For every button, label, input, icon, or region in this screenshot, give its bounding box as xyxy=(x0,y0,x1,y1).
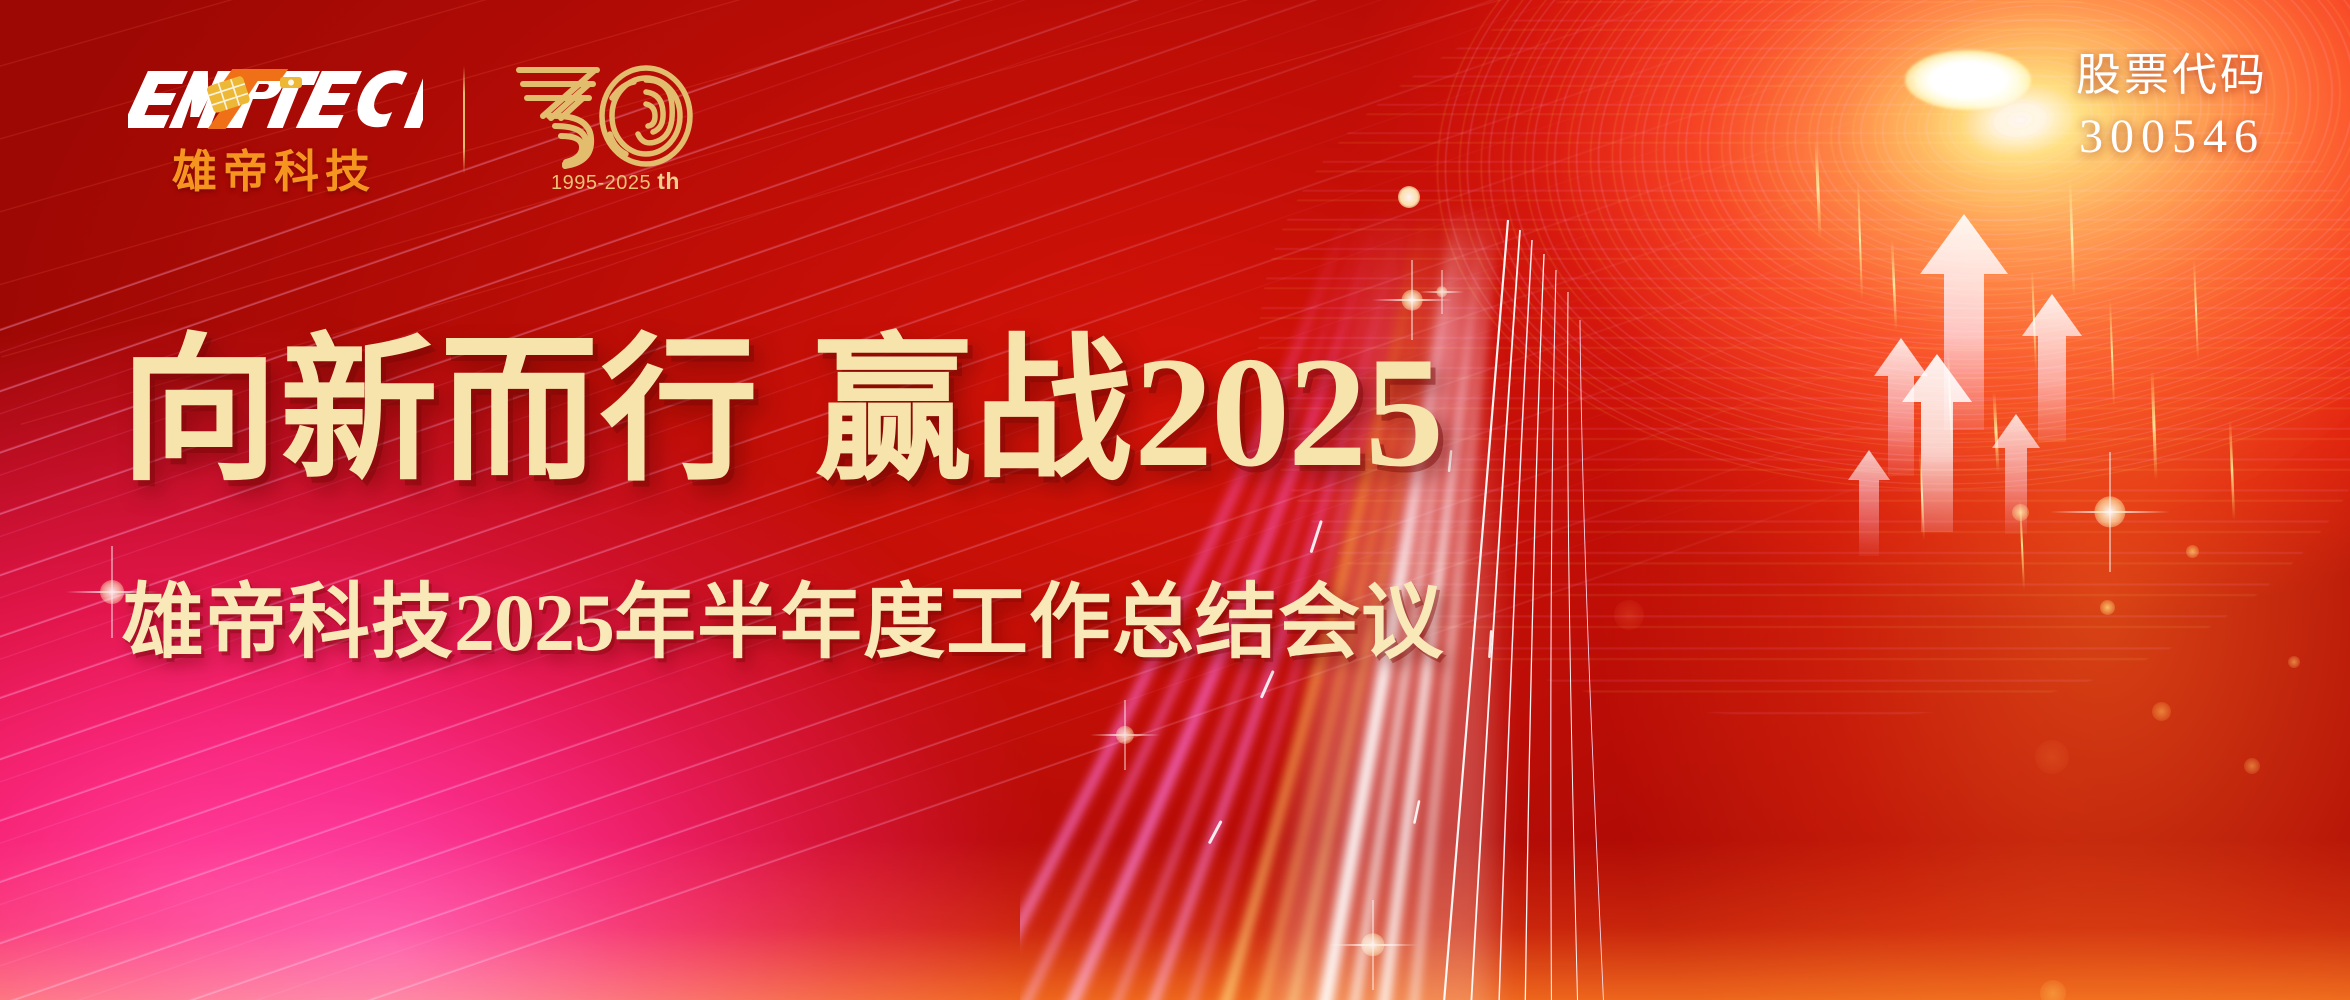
stock-code-value: 300546 xyxy=(2076,113,2268,161)
bokeh-dot xyxy=(2288,656,2300,668)
stock-code-block: 股票代码 300546 xyxy=(2076,52,2268,161)
headline: 向新而行赢战2025 xyxy=(120,332,1442,492)
anniversary-30-mark xyxy=(509,54,699,170)
headline-part-two-cn: 赢战 xyxy=(814,319,1134,503)
bokeh-dot xyxy=(1398,186,1420,208)
headline-year: 2025 xyxy=(1134,325,1442,500)
subtitle-company: 雄帝科技 xyxy=(122,575,454,670)
bokeh-dot xyxy=(2244,758,2260,774)
bokeh-dot xyxy=(2100,600,2115,615)
brand-logo-block: 雄帝科技 xyxy=(128,56,699,184)
subtitle-rest: 年半年度工作总结会议 xyxy=(614,575,1444,670)
sparkle-star-icon xyxy=(1420,270,1464,314)
subtitle: 雄帝科技2025年半年度工作总结会议 xyxy=(122,582,1444,664)
logo-name-cn: 雄帝科技 xyxy=(172,135,376,200)
sparkle-star-icon xyxy=(2050,452,2170,572)
sparkle-star-icon xyxy=(1090,700,1160,770)
emptech-logo: 雄帝科技 xyxy=(128,61,423,179)
promotional-banner: 雄帝科技 xyxy=(0,0,2350,1000)
upward-arrow-icon xyxy=(1900,352,1974,532)
anniversary-years: 1995-2025 th xyxy=(551,168,680,195)
bokeh-dot xyxy=(2012,504,2029,521)
upward-arrow-icon xyxy=(1846,448,1892,556)
subtitle-year: 2025 xyxy=(454,577,614,668)
bokeh-dot xyxy=(2152,702,2171,721)
logo-divider xyxy=(463,66,465,174)
anniversary-emblem: 1995-2025 th xyxy=(509,56,699,184)
stock-code-label: 股票代码 xyxy=(2076,52,2268,97)
sparkle-star-icon xyxy=(1328,900,1418,990)
bokeh-dot xyxy=(2040,980,2066,1000)
bokeh-dot xyxy=(2186,545,2199,558)
bokeh-dot xyxy=(2035,740,2069,774)
bokeh-dot xyxy=(1614,600,1644,630)
emptech-wordmark xyxy=(128,61,423,137)
headline-part-one: 向新而行 xyxy=(120,319,760,503)
vortex-core-highlight xyxy=(1905,50,2031,110)
fingerprint-zero-icon xyxy=(602,68,690,164)
